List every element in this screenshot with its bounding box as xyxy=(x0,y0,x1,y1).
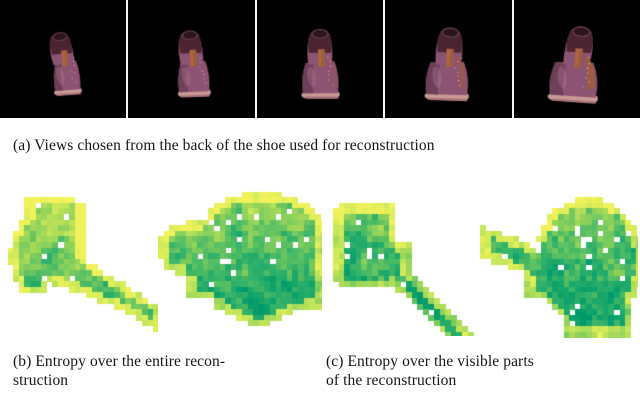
voxel-entropy-render-b1 xyxy=(2,186,160,336)
shoe-render-4 xyxy=(385,0,511,118)
view-panel-2 xyxy=(126,0,254,118)
voxel-canvas-c2 xyxy=(474,186,638,338)
voxel-entropy-render-c2 xyxy=(474,186,638,338)
caption-c: (c) Entropy over the visible parts of th… xyxy=(326,352,632,390)
shoe-render-1 xyxy=(0,0,126,118)
view-panel-3 xyxy=(255,0,383,118)
voxel-entropy-render-b2 xyxy=(158,186,322,336)
caption-a: (a) Views chosen from the back of the sh… xyxy=(13,136,631,155)
voxel-canvas-c1 xyxy=(322,186,476,336)
shoe-render-3 xyxy=(257,0,383,118)
view-panel-5 xyxy=(512,0,640,118)
caption-b: (b) Entropy over the entire recon- struc… xyxy=(13,352,309,390)
view-panel-1 xyxy=(0,0,126,118)
views-strip xyxy=(0,0,640,118)
voxel-canvas-b1 xyxy=(2,186,160,336)
view-panel-4 xyxy=(383,0,511,118)
shoe-render-2 xyxy=(128,0,254,118)
shoe-render-5 xyxy=(514,0,640,118)
voxel-entropy-render-c1 xyxy=(322,186,476,336)
voxel-canvas-b2 xyxy=(158,186,322,336)
